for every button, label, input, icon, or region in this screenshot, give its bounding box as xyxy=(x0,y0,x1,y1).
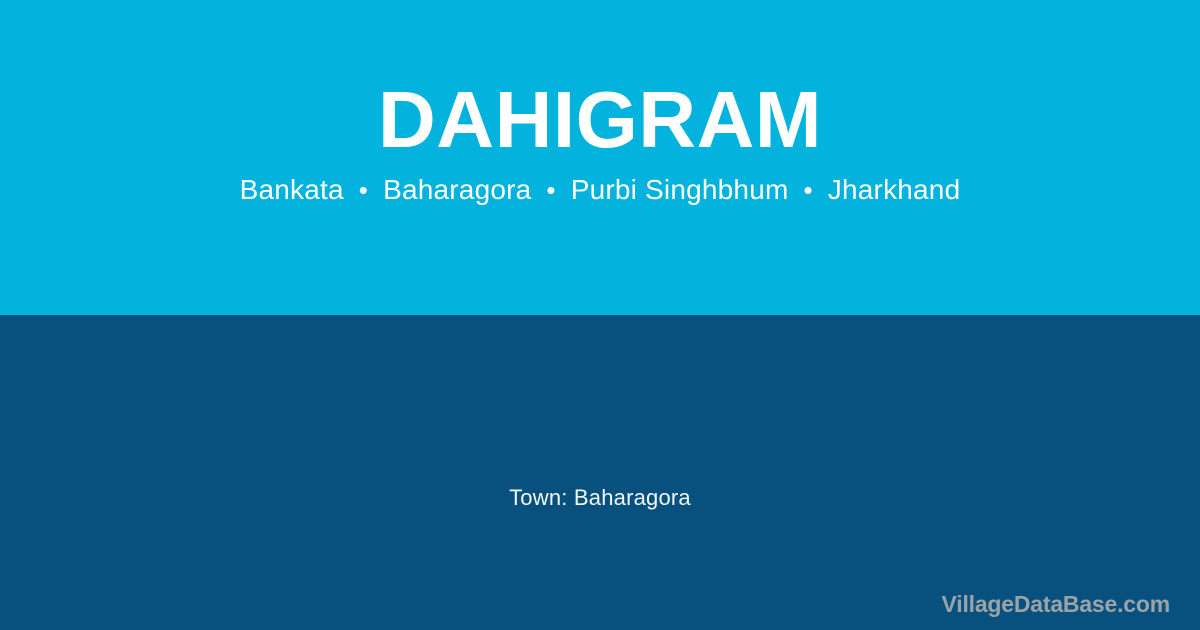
town-detail: Town: Baharagora xyxy=(0,485,1200,511)
breadcrumb-separator: • xyxy=(352,175,375,205)
hero-banner: DAHIGRAM Bankata • Baharagora • Purbi Si… xyxy=(0,0,1200,315)
village-info-card: DAHIGRAM Bankata • Baharagora • Purbi Si… xyxy=(0,0,1200,630)
page-title: DAHIGRAM xyxy=(378,80,822,160)
site-watermark: VillageDataBase.com xyxy=(942,591,1170,618)
breadcrumb-item-block: Baharagora xyxy=(383,174,531,205)
details-panel: Town: Baharagora VillageDataBase.com xyxy=(0,315,1200,630)
breadcrumb-item-village: Bankata xyxy=(240,174,344,205)
breadcrumb-separator: • xyxy=(539,175,562,205)
breadcrumb-item-district: Purbi Singhbhum xyxy=(571,174,789,205)
breadcrumb: Bankata • Baharagora • Purbi Singhbhum •… xyxy=(240,174,961,206)
breadcrumb-separator: • xyxy=(797,175,820,205)
breadcrumb-item-state: Jharkhand xyxy=(828,174,961,205)
